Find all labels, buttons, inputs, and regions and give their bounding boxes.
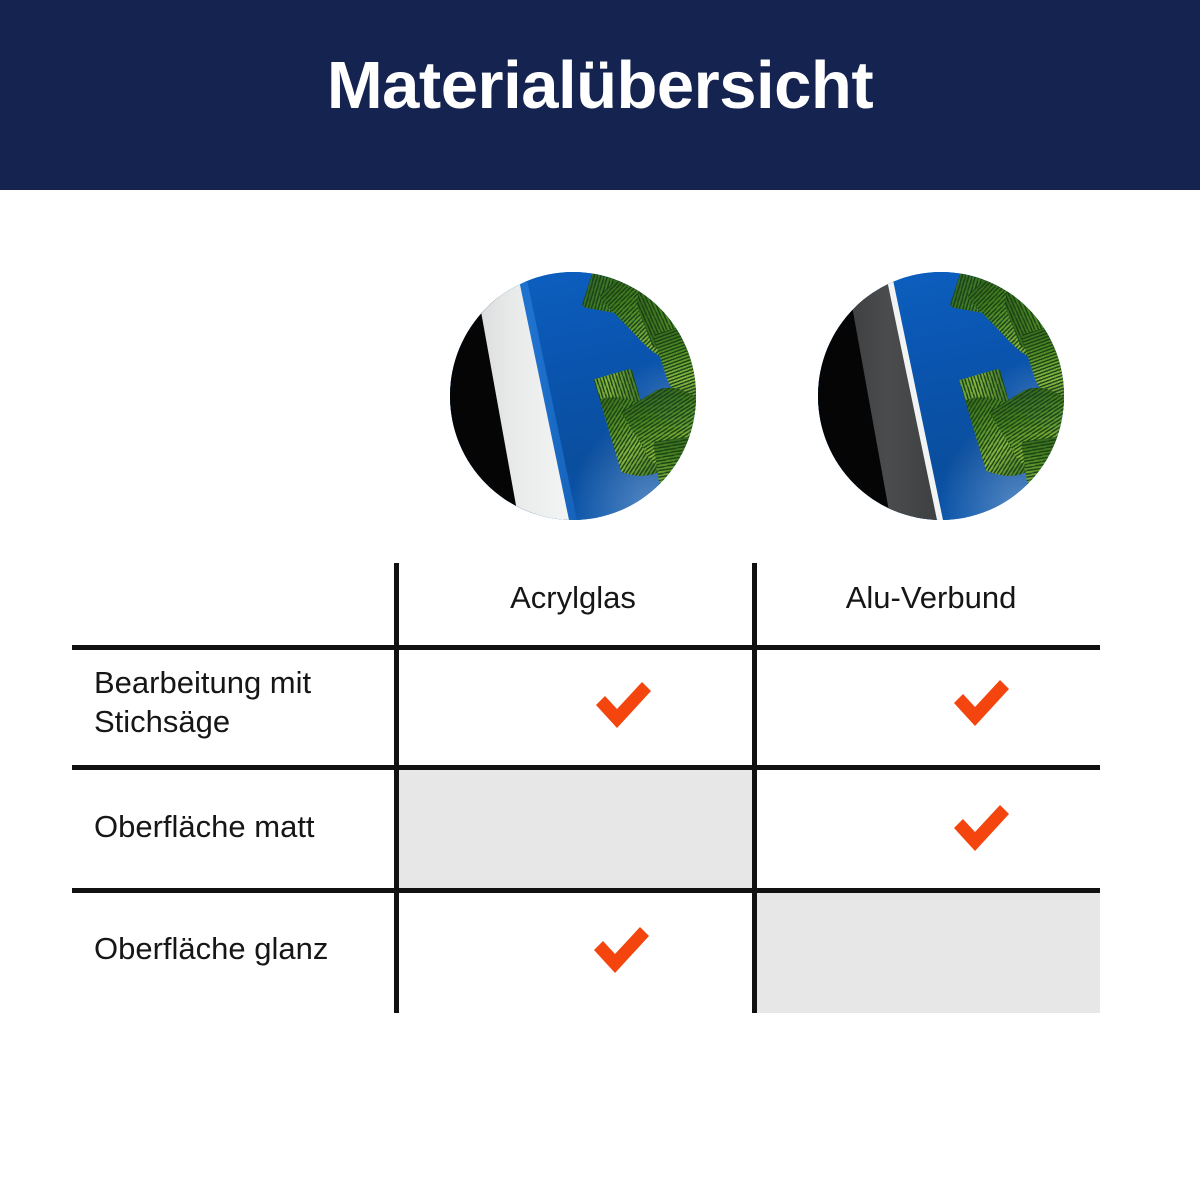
material-overview-infographic: Materialübersicht xyxy=(0,0,1200,1200)
check-mark-icon xyxy=(950,801,1012,853)
table-horizontal-divider xyxy=(72,645,1100,650)
acrylglas-preview-image xyxy=(450,272,696,520)
table-horizontal-divider xyxy=(72,765,1100,770)
row-label-line: Stichsäge xyxy=(94,702,394,741)
column-header-alu-verbund: Alu-Verbund xyxy=(752,580,1110,616)
palm-frond-group xyxy=(1021,442,1064,511)
palm-photo xyxy=(450,272,696,520)
unavailable-cell-acrylglas-matt xyxy=(397,770,752,888)
row-label-oberflaeche-matt: Oberfläche matt xyxy=(94,807,394,846)
check-mark-icon xyxy=(592,678,654,730)
table-horizontal-divider xyxy=(72,888,1100,893)
row-label-bearbeitung-stichsaege: Bearbeitung mit Stichsäge xyxy=(94,663,394,742)
palm-photo xyxy=(818,272,1064,520)
table-vertical-divider xyxy=(394,563,399,1013)
page-title: Materialübersicht xyxy=(0,52,1200,119)
material-comparison-table: Acrylglas Alu-Verbund Bearbeitung mit St… xyxy=(72,563,1100,1013)
row-label-line: Bearbeitung mit xyxy=(94,663,394,702)
check-mark-icon xyxy=(590,923,652,975)
palm-frond-group xyxy=(653,442,696,511)
unavailable-cell-alu-verbund-glanz xyxy=(755,893,1100,1013)
alu-verbund-preview-image xyxy=(818,272,1064,520)
row-label-oberflaeche-glanz: Oberfläche glanz xyxy=(94,929,394,968)
header-band: Materialübersicht xyxy=(0,0,1200,190)
table-vertical-divider xyxy=(752,563,757,1013)
column-header-acrylglas: Acrylglas xyxy=(394,580,752,616)
check-mark-icon xyxy=(950,676,1012,728)
